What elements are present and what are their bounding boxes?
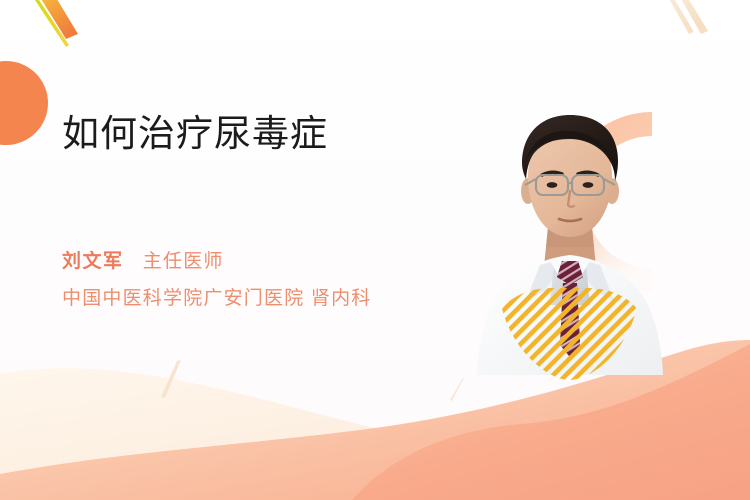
doctor-professional-title: 主任医师 (143, 251, 224, 272)
doctor-name-row: 刘文军 主任医师 (62, 249, 224, 275)
doctor-affiliation-row: 中国中医科学院广安门医院 肾内科 (62, 286, 371, 312)
yellow-striped-disc (497, 288, 642, 380)
headline-block: 如何治疗尿毒症 (62, 112, 482, 156)
doctor-name: 刘文军 (62, 251, 124, 272)
page-title: 如何治疗尿毒症 (62, 112, 482, 156)
portrait-eye-left (547, 182, 558, 188)
doctor-affiliation: 中国中医科学院广安门医院 肾内科 (62, 288, 371, 309)
doctor-intro-card: 如何治疗尿毒症 刘文军 主任医师 中国中医科学院广安门医院 肾内科 (0, 0, 750, 500)
portrait-eye-right (583, 182, 594, 188)
